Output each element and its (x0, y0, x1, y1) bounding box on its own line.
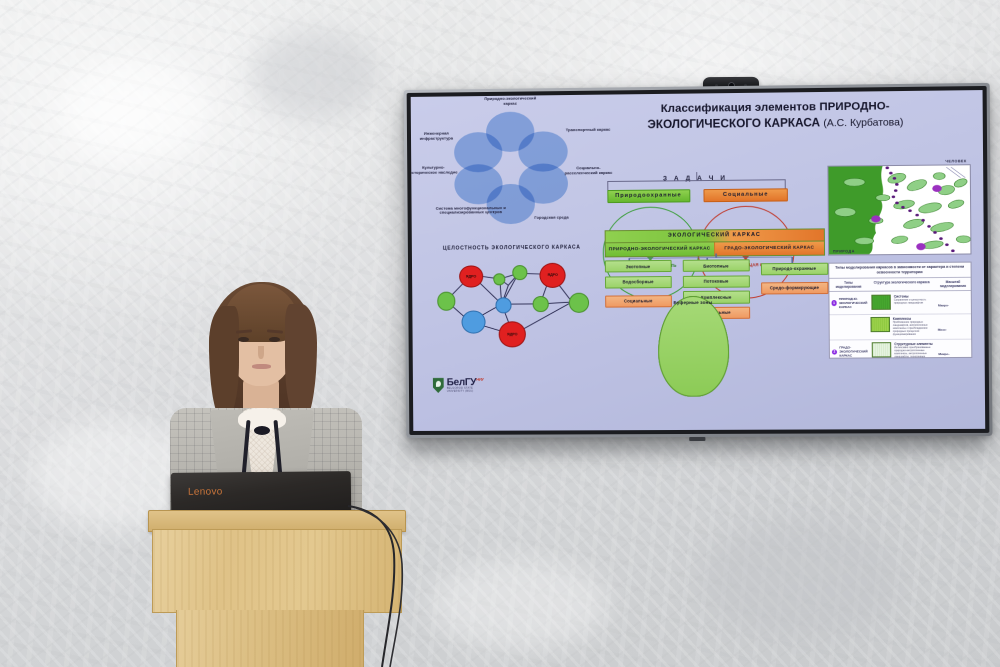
landscape-map: ПРИРОДА ЧЕЛОВЕК (827, 165, 971, 256)
scale-label: Макро- (938, 303, 949, 307)
slide-title-author: (А.С. Курбатова) (823, 117, 903, 129)
eye-right (269, 337, 280, 342)
ribbon-tie-knot (254, 426, 270, 435)
venn-label-6: Инженерная инфраструктура (412, 131, 460, 141)
column-item: Биотопные (682, 260, 749, 273)
column-item: Социальные (605, 295, 672, 308)
wall-mounted-display[interactable]: Классификация элементов ПРИРОДНО- ЭКОЛОГ… (404, 83, 993, 438)
table-cell-scale: Мезо- (936, 317, 971, 335)
hair-left (209, 306, 239, 418)
wall-blotch (700, 520, 900, 640)
eye-left (238, 337, 249, 342)
network-node-core: ЯДРО (499, 322, 526, 348)
table-col-header-1: Структура экологического каркаса (868, 280, 935, 289)
network-node-patch (533, 296, 550, 312)
lecture-room-photo: Классификация элементов ПРИРОДНО- ЭКОЛОГ… (0, 0, 1000, 667)
table-cell-structure: Структурные элементы Интенсивно преобраз… (870, 341, 937, 358)
tv-bezel: Классификация элементов ПРИРОДНО- ЭКОЛОГ… (407, 86, 990, 435)
column-item: Средо-формирующие (761, 282, 828, 295)
table-row: 2 ГРАДО-ЭКОЛОГИЧЕСКИЙ КАРКАС Структурные… (830, 339, 972, 359)
table-header-row: Типы моделирования Структура экологическ… (829, 277, 971, 292)
column-item: Потоковые (683, 275, 750, 288)
color-swatch (871, 295, 891, 310)
wall-blotch (60, 60, 210, 160)
wall-blotch (250, 30, 380, 120)
shield-icon (433, 378, 444, 393)
venn-circle (454, 132, 503, 173)
logo-ru: БелГУНИУ (447, 377, 484, 387)
structure-desc: Интенсивно преобразованные природно-антр… (894, 346, 934, 359)
network-node-patch (568, 292, 589, 312)
power-cable (330, 500, 440, 667)
logo-sup: НИУ (476, 376, 483, 381)
map-label-human: ЧЕЛОВЕК (945, 160, 967, 164)
table-col-header-0: Типы моделирования (829, 280, 868, 289)
tv-screen[interactable]: Классификация элементов ПРИРОДНО- ЭКОЛОГ… (411, 90, 986, 431)
wall-blotch (430, 560, 610, 650)
structure-text: Системы Сохранение и целостность природн… (894, 295, 934, 306)
structure-desc: Сохранение и целостность природных ландш… (894, 299, 934, 306)
framework-columns: Ядра Экотопные Водосборные Социальные Ко… (605, 259, 829, 323)
color-swatch (872, 342, 892, 357)
network-diagram: ЯДРО ЯДРО ЯДРО (429, 252, 600, 360)
table-row: 1 ПРИРОДНО-ЭКОЛОГИЧЕСКИЙ КАРКАС Системы … (829, 291, 971, 315)
framework-column-buffer: Буферные зоны Природо-охранные Средо-фор… (761, 259, 829, 322)
laptop[interactable]: Lenovo (171, 471, 351, 515)
row-number-badge: 1 (831, 300, 837, 306)
venn-label-0: Природно-экологический каркас (478, 97, 543, 108)
table-col-header-2: Масштаб моделирования (935, 280, 970, 289)
logo-en-line2: UNIVERSITY (BSU) (447, 390, 484, 393)
row-type-label: ПРИРОДНО-ЭКОЛОГИЧЕСКИЙ КАРКАС (839, 297, 867, 309)
tv-brand-indicator (689, 437, 705, 441)
structure-text: Комплексы Приближение природных ландшафт… (893, 316, 934, 336)
landscape-map-svg (828, 166, 970, 255)
table-cell-type: 1 ПРИРОДНО-ЭКОЛОГИЧЕСКИЙ КАРКАС (829, 297, 869, 309)
scale-label: Микро- (938, 352, 949, 356)
column-item: Природо-охранные (761, 262, 828, 275)
map-label-nature: ПРИРОДА (833, 249, 855, 253)
column-item: Экотопные (605, 260, 672, 273)
table-cell-scale: Макро- (936, 293, 971, 311)
network-node-core: ЯДРО (459, 265, 482, 288)
nose (258, 346, 264, 359)
table-title: Типы моделирования каркасов в зависимост… (829, 262, 971, 278)
venn-label-5: Культурно-историческое наследие (411, 166, 458, 176)
slide-title: Классификация элементов ПРИРОДНО- ЭКОЛОГ… (586, 99, 965, 133)
table-cell-structure: Системы Сохранение и целостность природн… (869, 295, 936, 311)
network-node-hub (461, 310, 485, 334)
column-item: Водосборные (605, 276, 672, 289)
hair-right (285, 304, 317, 420)
structure-desc: Приближение природных ландшафтов, антроп… (893, 320, 934, 336)
venn-label-1: Транспортный каркас (564, 128, 613, 133)
venn-label-3: Городская среда (522, 216, 580, 221)
table-row: Комплексы Приближение природных ландшафт… (829, 314, 971, 340)
venn-label-4: Система многофункциональных и специализи… (435, 206, 506, 216)
row-number-badge: 2 (832, 349, 838, 355)
table-cell-scale: Микро- (936, 342, 971, 359)
slide-title-line2: ЭКОЛОГИЧЕСКОГО КАРКАСА (А.С. Курбатова) (586, 113, 965, 133)
network-title: ЦЕЛОСТНОСТЬ ЭКОЛОГИЧЕСКОГО КАРКАСА (443, 244, 581, 251)
scale-label: Мезо- (938, 327, 947, 331)
network-node-hub (495, 297, 512, 313)
logo-text: БелГУНИУ BELGOROD STATE UNIVERSITY (BSU) (447, 377, 484, 393)
mouth (252, 364, 271, 369)
task-pill-conservation: Природоохранные (607, 189, 690, 203)
university-logo: БелГУНИУ BELGOROD STATE UNIVERSITY (BSU) (433, 377, 484, 393)
row-type-label: ГРАДО-ЭКОЛОГИЧЕСКИЙ КАРКАС (839, 346, 867, 358)
structure-text: Структурные элементы Интенсивно преобраз… (894, 341, 934, 358)
table-cell-type: 2 ГРАДО-ЭКОЛОГИЧЕСКИЙ КАРКАС (830, 346, 870, 358)
model-types-table: Типы моделирования каркасов в зависимост… (828, 261, 972, 359)
framework-column-cores: Ядра Экотопные Водосборные Социальные (605, 260, 672, 323)
task-pill-social: Социальные (704, 188, 788, 202)
venn-diagram: Природно-экологический каркас Транспортн… (425, 108, 587, 244)
table-cell-structure: Комплексы Приближение природных ландшафт… (868, 316, 936, 336)
presentation-slide: Классификация элементов ПРИРОДНО- ЭКОЛОГ… (411, 90, 986, 431)
laptop-brand-label: Lenovo (188, 486, 223, 497)
color-swatch (870, 317, 890, 332)
